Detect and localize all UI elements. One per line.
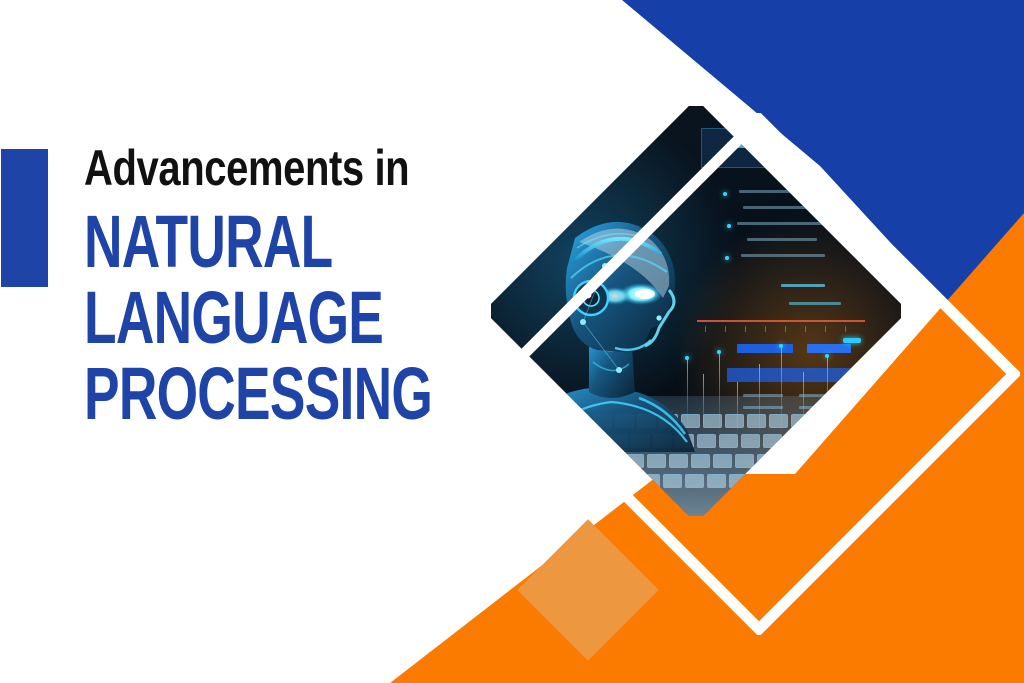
left-accent-bar [1,149,48,287]
axis-tick [745,326,746,332]
data-point [717,350,721,354]
axis-tick [825,326,826,332]
axis-tick [765,326,766,332]
dashboard-text [747,238,817,241]
dashboard-text [737,222,829,225]
dashboard-bar [807,344,851,353]
dashboard-bar [843,338,861,343]
headline-line-2: LANGUAGE [84,280,394,356]
data-point [779,344,783,348]
axis-tick [785,326,786,332]
headline-block: Advancements in NATURAL LANGUAGE PROCESS… [84,140,514,432]
axis-tick [805,326,806,332]
headline-eyebrow: Advancements in [84,140,428,196]
dashboard-text [789,302,841,305]
data-point [825,354,829,358]
headline-line-1: NATURAL [84,204,394,280]
dashboard-text [741,254,825,257]
headline-line-3: PROCESSING [84,356,394,432]
poster-canvas: Advancements in NATURAL LANGUAGE PROCESS… [0,0,1024,683]
axis-tick [725,326,726,332]
dashboard-dot [725,256,729,260]
dashboard-text [781,284,825,287]
dashboard-trend-line [697,320,865,322]
dashboard-dot [727,224,731,228]
dashboard-dot [723,192,727,196]
dashboard-panel [727,368,859,382]
axis-tick [845,326,846,332]
dashboard-bar [737,344,793,353]
